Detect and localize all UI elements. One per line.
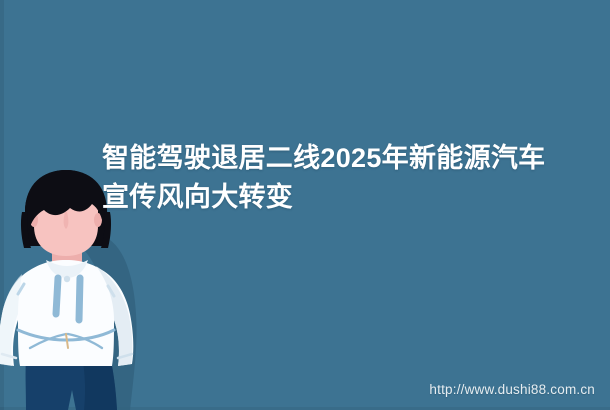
article-cover-image: 智能驾驶退居二线2025年新能源汽车宣传风向大转变 http://www.dus… — [0, 0, 610, 410]
site-url-watermark: http://www.dushi88.com.cn — [429, 382, 595, 398]
drawstring-right — [79, 278, 80, 320]
page-title: 智能驾驶退居二线2025年新能源汽车宣传风向大转变 — [102, 139, 572, 217]
drawstring-eyelet — [64, 276, 70, 282]
drawstring-left — [56, 278, 58, 314]
